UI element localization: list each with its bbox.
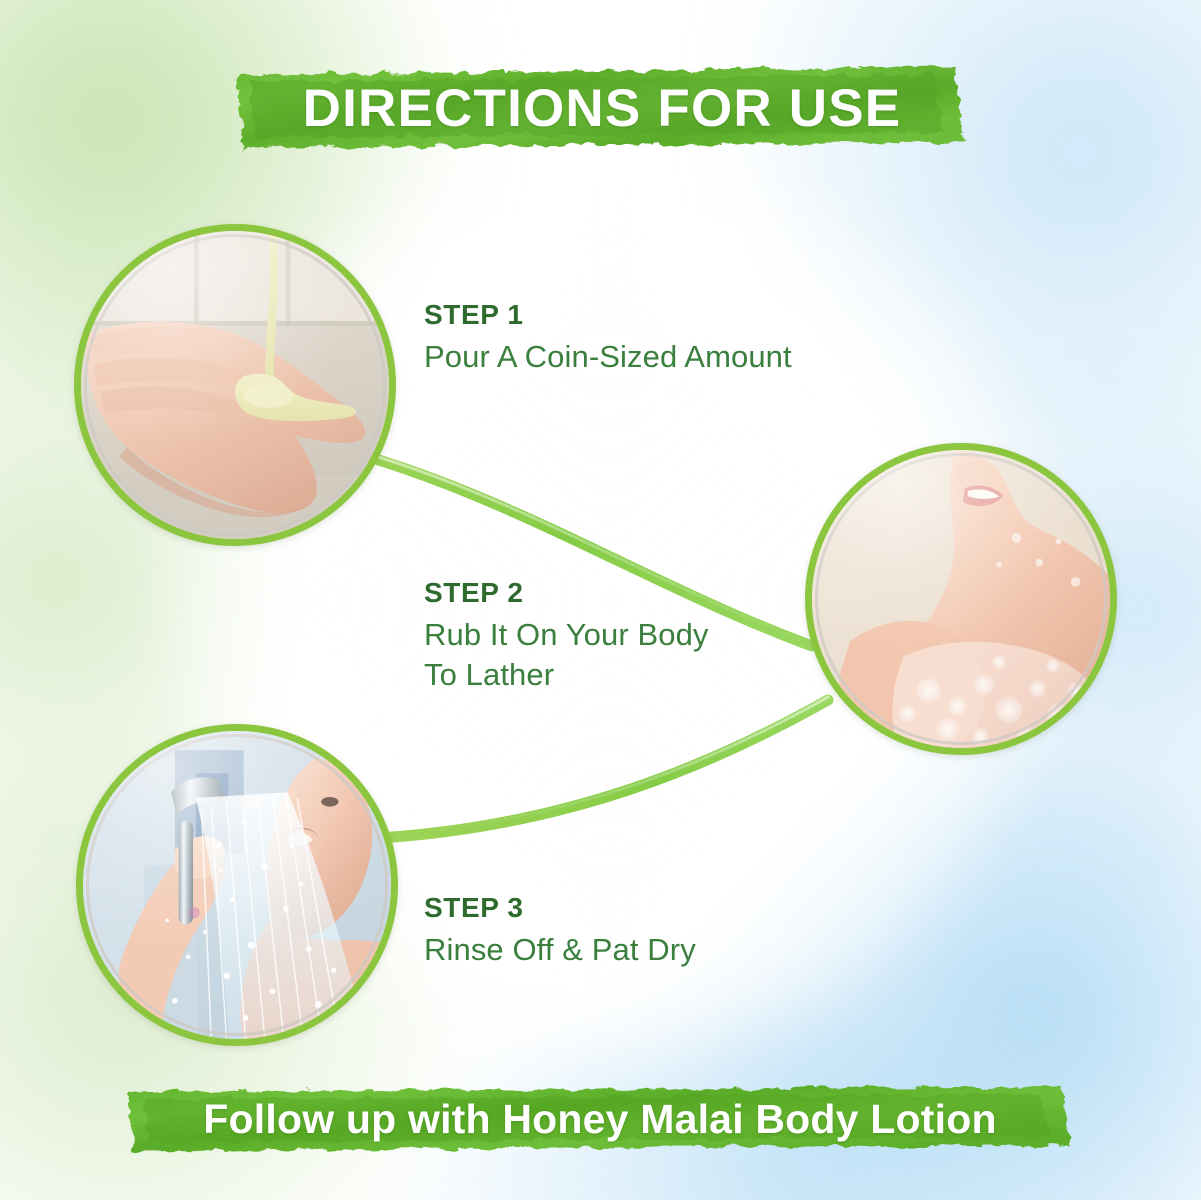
step-2-description-line-2: To Lather	[424, 655, 709, 695]
footer-banner: Follow up with Honey Malai Body Lotion	[124, 1083, 1076, 1155]
photo-pour-lotion-on-palm	[81, 231, 389, 539]
step-1-kicker: STEP 1	[424, 300, 792, 329]
title-banner: DIRECTIONS FOR USE	[232, 62, 972, 154]
step-2-photo-circle	[805, 443, 1117, 755]
photo-rinse-under-shower	[83, 731, 391, 1039]
title-banner-label: DIRECTIONS FOR USE	[303, 78, 902, 139]
step-1-photo-circle	[74, 224, 396, 546]
connector-step2-step3	[380, 700, 828, 838]
directions-for-use-poster: DIRECTIONS FOR USE	[0, 0, 1201, 1200]
step-3-text: STEP 3 Rinse Off & Pat Dry	[424, 893, 696, 970]
footer-banner-label: Follow up with Honey Malai Body Lotion	[203, 1096, 996, 1143]
photo-pour-lotion-on-palm-art	[81, 231, 389, 539]
photo-lather-on-shoulder	[812, 450, 1110, 748]
step-1-description: Pour A Coin-Sized Amount	[424, 337, 792, 377]
connector-step2-step3-highlight	[380, 697, 828, 835]
step-1-text: STEP 1 Pour A Coin-Sized Amount	[424, 300, 792, 377]
step-3-photo-circle	[76, 724, 398, 1046]
step-2-text: STEP 2 Rub It On Your Body To Lather	[424, 578, 709, 695]
step-3-kicker: STEP 3	[424, 893, 696, 922]
photo-lather-on-shoulder-art	[812, 450, 1110, 748]
photo-rinse-under-shower-art	[83, 731, 391, 1039]
step-2-description-line-1: Rub It On Your Body	[424, 615, 709, 655]
step-2-kicker: STEP 2	[424, 578, 709, 607]
step-3-description: Rinse Off & Pat Dry	[424, 930, 696, 970]
